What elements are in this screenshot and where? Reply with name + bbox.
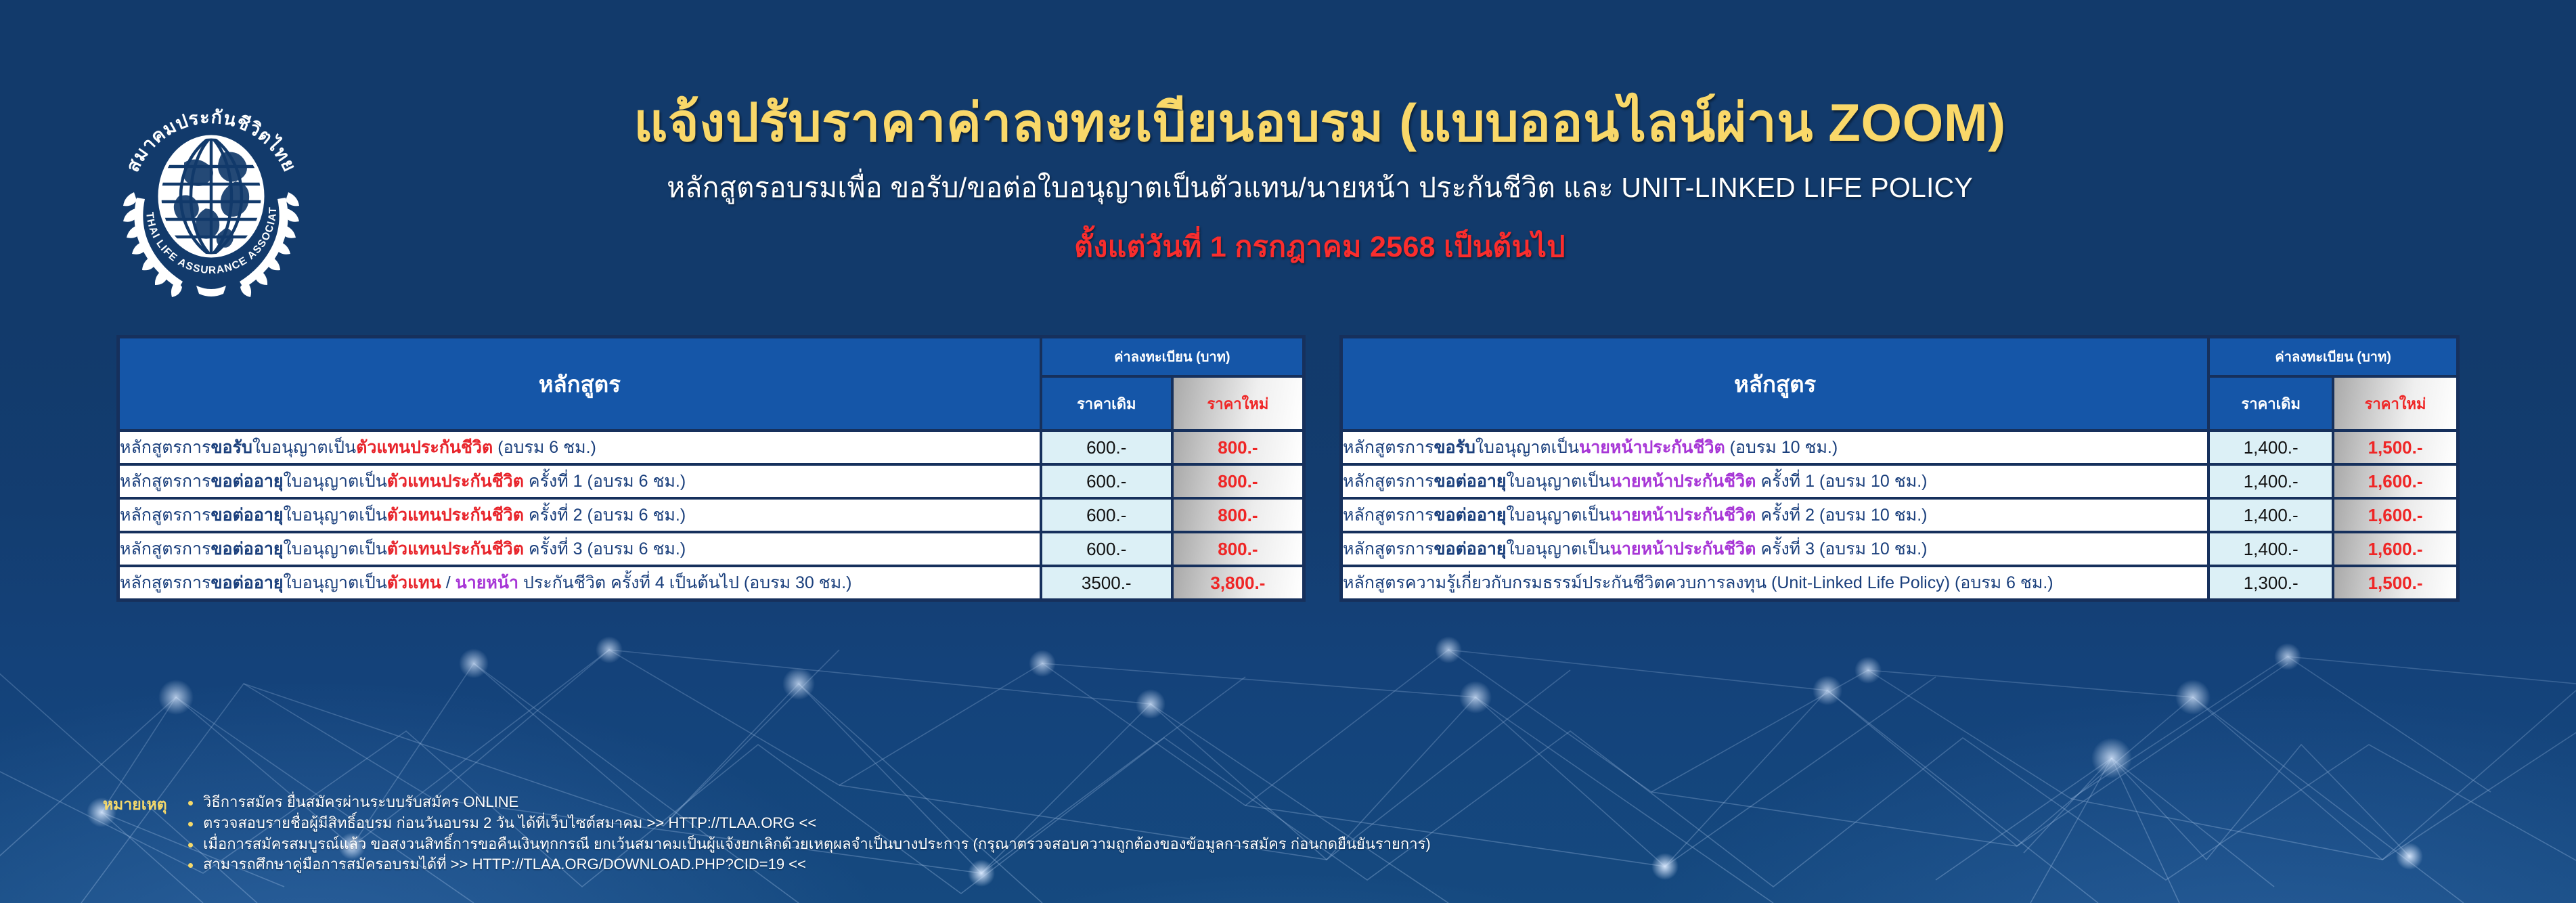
new-price-cell: 800.- bbox=[1172, 464, 1304, 498]
column-header-old-price: ราคาเดิม bbox=[1041, 376, 1172, 431]
table-row: หลักสูตรการขอต่ออายุใบอนุญาตเป็นตัวแทนปร… bbox=[118, 498, 1304, 532]
new-price-cell: 3,800.- bbox=[1172, 566, 1304, 600]
note-item: ตรวจสอบรายชื่อผู้มีสิทธิ์อบรม ก่อนวันอบร… bbox=[185, 813, 1431, 834]
new-price-cell: 1,500.- bbox=[2333, 431, 2458, 464]
column-header-new-price: ราคาใหม่ bbox=[2333, 376, 2458, 431]
broker-price-table: หลักสูตร ค่าลงทะเบียน (บาท) ราคาเดิม ราค… bbox=[1339, 335, 2460, 602]
new-price-cell: 1,500.- bbox=[2333, 566, 2458, 600]
note-item: สามารถศึกษาคู่มือการสมัครอบรมได้ที่ >> H… bbox=[185, 854, 1431, 875]
table-row: หลักสูตรการขอต่ออายุใบอนุญาตเป็นตัวแทนปร… bbox=[118, 532, 1304, 566]
course-name-cell: หลักสูตรความรู้เกี่ยวกับกรมธรรม์ประกันชี… bbox=[1341, 566, 2208, 600]
old-price-cell: 600.- bbox=[1041, 498, 1172, 532]
note-item: เมื่อการสมัครสมบูรณ์แล้ว ขอสงวนสิทธิ์การ… bbox=[185, 834, 1431, 855]
broker-table-body: หลักสูตรการขอรับใบอนุญาตเป็นนายหน้าประกั… bbox=[1341, 431, 2458, 600]
notes-section: หมายเหตุ วิธีการสมัคร ยื่นสมัครผ่านระบบร… bbox=[103, 792, 2404, 875]
broker-price-table-panel: หลักสูตร ค่าลงทะเบียน (บาท) ราคาเดิม ราค… bbox=[1339, 335, 2460, 602]
title-block: แจ้งปรับราคาค่าลงทะเบียนอบรม (แบบออนไลน์… bbox=[318, 95, 2322, 269]
note-item: วิธีการสมัคร ยื่นสมัครผ่านระบบรับสมัคร O… bbox=[185, 792, 1431, 813]
column-header-fee-group: ค่าลงทะเบียน (บาท) bbox=[2208, 337, 2458, 376]
notes-list: วิธีการสมัคร ยื่นสมัครผ่านระบบรับสมัคร O… bbox=[185, 792, 1431, 875]
course-name-cell: หลักสูตรการขอต่ออายุใบอนุญาตเป็นตัวแทน /… bbox=[118, 566, 1041, 600]
table-row: หลักสูตรการขอต่ออายุใบอนุญาตเป็นนายหน้าป… bbox=[1341, 498, 2458, 532]
page-subtitle: หลักสูตรอบรมเพื่อ ขอรับ/ขอต่อใบอนุญาตเป็… bbox=[318, 166, 2322, 210]
column-header-new-price: ราคาใหม่ bbox=[1172, 376, 1304, 431]
old-price-cell: 600.- bbox=[1041, 532, 1172, 566]
new-price-cell: 1,600.- bbox=[2333, 532, 2458, 566]
old-price-cell: 1,400.- bbox=[2208, 498, 2333, 532]
page-title: แจ้งปรับราคาค่าลงทะเบียนอบรม (แบบออนไลน์… bbox=[318, 95, 2322, 151]
old-price-cell: 1,400.- bbox=[2208, 532, 2333, 566]
effective-date-line: ตั้งแต่วันที่ 1 กรกฎาคม 2568 เป็นต้นไป bbox=[318, 223, 2322, 269]
table-row: หลักสูตรความรู้เกี่ยวกับกรมธรรม์ประกันชี… bbox=[1341, 566, 2458, 600]
course-name-cell: หลักสูตรการขอต่ออายุใบอนุญาตเป็นนายหน้าป… bbox=[1341, 464, 2208, 498]
course-name-cell: หลักสูตรการขอรับใบอนุญาตเป็นตัวแทนประกัน… bbox=[118, 431, 1041, 464]
column-header-course: หลักสูตร bbox=[1341, 337, 2208, 431]
old-price-cell: 600.- bbox=[1041, 431, 1172, 464]
new-price-cell: 800.- bbox=[1172, 498, 1304, 532]
course-name-cell: หลักสูตรการขอต่ออายุใบอนุญาตเป็นตัวแทนปร… bbox=[118, 532, 1041, 566]
old-price-cell: 3500.- bbox=[1041, 566, 1172, 600]
table-row: หลักสูตรการขอต่ออายุใบอนุญาตเป็นตัวแทนปร… bbox=[118, 464, 1304, 498]
agent-price-table-panel: หลักสูตร ค่าลงทะเบียน (บาท) ราคาเดิม ราค… bbox=[116, 335, 1306, 602]
old-price-cell: 600.- bbox=[1041, 464, 1172, 498]
course-name-cell: หลักสูตรการขอรับใบอนุญาตเป็นนายหน้าประกั… bbox=[1341, 431, 2208, 464]
table-row: หลักสูตรการขอต่ออายุใบอนุญาตเป็นนายหน้าป… bbox=[1341, 532, 2458, 566]
new-price-cell: 800.- bbox=[1172, 532, 1304, 566]
course-name-cell: หลักสูตรการขอต่ออายุใบอนุญาตเป็นนายหน้าป… bbox=[1341, 498, 2208, 532]
new-price-cell: 800.- bbox=[1172, 431, 1304, 464]
old-price-cell: 1,300.- bbox=[2208, 566, 2333, 600]
agent-table-body: หลักสูตรการขอรับใบอนุญาตเป็นตัวแทนประกัน… bbox=[118, 431, 1304, 600]
course-name-cell: หลักสูตรการขอต่ออายุใบอนุญาตเป็นนายหน้าป… bbox=[1341, 532, 2208, 566]
course-name-cell: หลักสูตรการขอต่ออายุใบอนุญาตเป็นตัวแทนปร… bbox=[118, 498, 1041, 532]
table-row: หลักสูตรการขอต่ออายุใบอนุญาตเป็นนายหน้าป… bbox=[1341, 464, 2458, 498]
old-price-cell: 1,400.- bbox=[2208, 431, 2333, 464]
table-row: หลักสูตรการขอต่ออายุใบอนุญาตเป็นตัวแทน /… bbox=[118, 566, 1304, 600]
column-header-old-price: ราคาเดิม bbox=[2208, 376, 2333, 431]
old-price-cell: 1,400.- bbox=[2208, 464, 2333, 498]
agent-price-table: หลักสูตร ค่าลงทะเบียน (บาท) ราคาเดิม ราค… bbox=[116, 335, 1306, 602]
column-header-course: หลักสูตร bbox=[118, 337, 1041, 431]
new-price-cell: 1,600.- bbox=[2333, 498, 2458, 532]
tlaa-logo: สมาคมประกันชีวิตไทย THE THAI LIFE ASSURA… bbox=[103, 83, 319, 299]
page-header: สมาคมประกันชีวิตไทย THE THAI LIFE ASSURA… bbox=[0, 0, 2576, 332]
notes-label: หมายเหตุ bbox=[103, 792, 185, 875]
new-price-cell: 1,600.- bbox=[2333, 464, 2458, 498]
course-name-cell: หลักสูตรการขอต่ออายุใบอนุญาตเป็นตัวแทนปร… bbox=[118, 464, 1041, 498]
table-row: หลักสูตรการขอรับใบอนุญาตเป็นตัวแทนประกัน… bbox=[118, 431, 1304, 464]
column-header-fee-group: ค่าลงทะเบียน (บาท) bbox=[1041, 337, 1304, 376]
table-row: หลักสูตรการขอรับใบอนุญาตเป็นนายหน้าประกั… bbox=[1341, 431, 2458, 464]
